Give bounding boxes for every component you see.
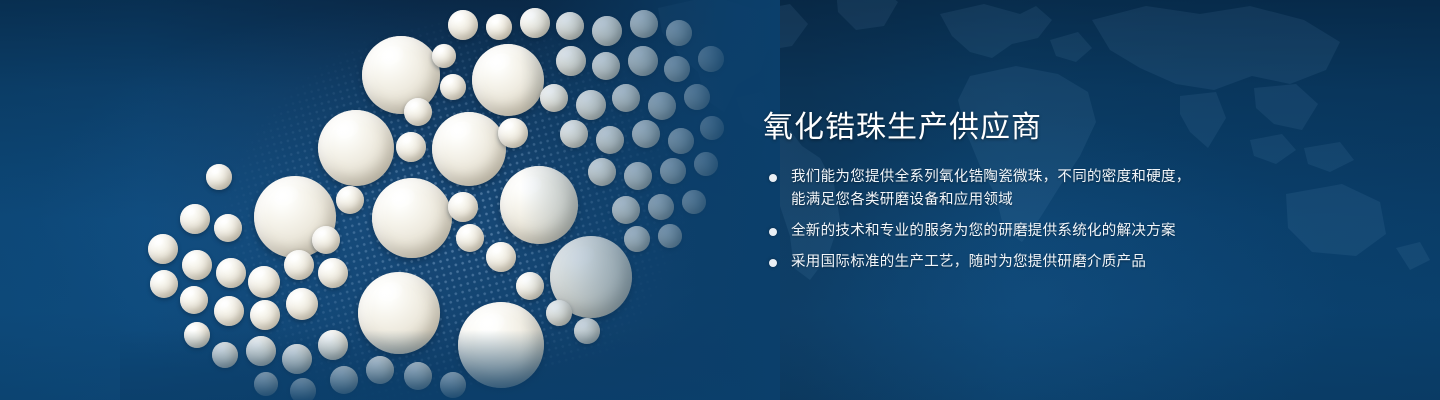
bullet-dot-icon [769,228,777,236]
bullet-line: 采用国际标准的生产工艺，随时为您提供研磨介质产品 [791,251,1233,274]
banner-headline: 氧化锆珠生产供应商 [763,108,1233,148]
bullet-line: 能满足您各类研磨设备和应用领域 [791,189,1233,212]
bullet-line: 全新的技术和专业的服务为您的研磨提供系统化的解决方案 [791,220,1233,243]
hero-banner: 氧化锆珠生产供应商 我们能为您提供全系列氧化锆陶瓷微珠，不同的密度和硬度， 能满… [0,0,1440,400]
bullet-line: 我们能为您提供全系列氧化锆陶瓷微珠，不同的密度和硬度， [791,166,1233,189]
zirconia-beads-image [0,0,760,400]
list-item: 采用国际标准的生产工艺，随时为您提供研磨介质产品 [763,251,1233,274]
list-item: 我们能为您提供全系列氧化锆陶瓷微珠，不同的密度和硬度， 能满足您各类研磨设备和应… [763,166,1233,212]
benefit-list: 我们能为您提供全系列氧化锆陶瓷微珠，不同的密度和硬度， 能满足您各类研磨设备和应… [763,166,1233,274]
list-item: 全新的技术和专业的服务为您的研磨提供系统化的解决方案 [763,220,1233,243]
banner-copy: 氧化锆珠生产供应商 我们能为您提供全系列氧化锆陶瓷微珠，不同的密度和硬度， 能满… [763,108,1233,274]
bullet-dot-icon [769,259,777,267]
bullet-dot-icon [769,174,777,182]
beads-bottom-fade [120,330,740,400]
